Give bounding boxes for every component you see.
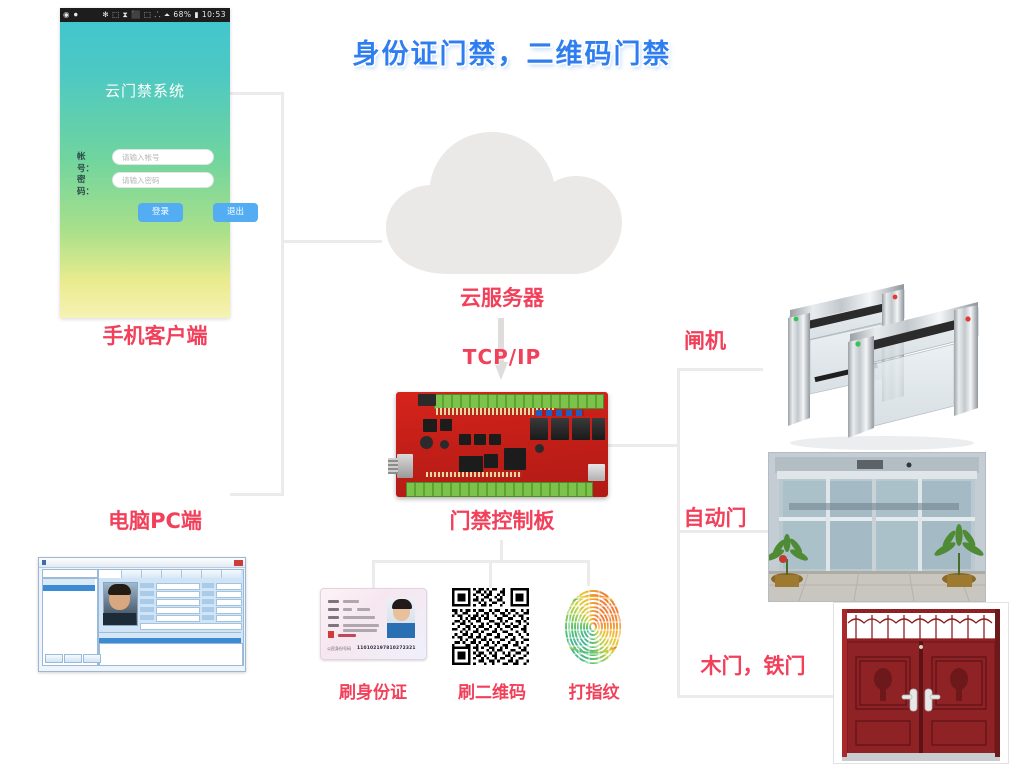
connector-bottom-to-qr [489, 560, 492, 588]
pc-field-input[interactable] [156, 599, 200, 606]
connector-right-to-iron-door [677, 695, 835, 698]
pc-client-mockup[interactable] [38, 557, 246, 672]
connector-bus-to-pc [230, 493, 284, 496]
connector-bottom-to-id [372, 560, 375, 590]
label-swipe-qr-code: 刷二维码 [440, 678, 544, 703]
id-card-photo-hair [392, 599, 412, 609]
status-bar-left-icons: ◉ ⏺ [63, 8, 79, 22]
pc-field-label [140, 583, 154, 588]
pc-title-bar [39, 558, 245, 568]
pc-field-input[interactable] [216, 607, 242, 614]
pc-field-label [140, 591, 154, 596]
id-card-emblem-icon [328, 631, 334, 638]
account-input[interactable]: 请输入帐号 [112, 149, 214, 165]
pc-field-label [140, 615, 154, 620]
iron-door-image [833, 602, 1009, 764]
pc-table-body[interactable] [99, 643, 243, 666]
connector-bus-vertical [281, 92, 284, 496]
pc-field-input[interactable] [216, 615, 242, 622]
pc-tab-7[interactable] [221, 570, 241, 578]
pc-field-input[interactable] [156, 607, 200, 614]
pc-person-photo-hair [108, 584, 131, 595]
id-number-value: 110102197810272321 [357, 646, 416, 651]
pc-tab-active[interactable] [99, 570, 122, 578]
label-cloud-server: 云服务器 [400, 282, 604, 312]
pc-field-input[interactable] [156, 591, 200, 598]
fingerprint-icon [559, 584, 627, 666]
connector-phone-to-bus [230, 92, 284, 95]
label-tcpip: TCP/IP [400, 345, 604, 369]
pc-remark-input[interactable] [140, 623, 242, 630]
pc-app-icon [42, 560, 46, 565]
id-card-photo-body [387, 623, 415, 638]
status-bar-right-icons: ✻ ⬚ ⧗ ⬛ ⬚ ⸫ ⏶ 68% ▮ 10:53 [102, 8, 226, 22]
pc-tab-3[interactable] [141, 570, 162, 578]
pc-field-label [202, 607, 214, 612]
pc-tab-5[interactable] [181, 570, 202, 578]
pc-tab-6[interactable] [201, 570, 222, 578]
pc-action-button-1[interactable] [45, 654, 63, 663]
label-control-board: 门禁控制板 [400, 505, 604, 535]
pc-field-label [202, 615, 214, 620]
pc-person-photo-body [103, 613, 136, 625]
pc-tree-panel[interactable] [42, 578, 98, 666]
pc-action-button-3[interactable] [83, 654, 101, 663]
id-card-image: 公民身份号码 110102197810272321 [320, 588, 427, 660]
pc-field-input[interactable] [156, 583, 200, 590]
pc-close-icon[interactable] [234, 560, 243, 566]
pc-field-label [202, 591, 214, 596]
pc-search-input[interactable] [42, 569, 98, 578]
pc-field-input[interactable] [216, 583, 242, 590]
password-label: 密码： [77, 173, 94, 197]
automatic-door-image [768, 452, 986, 602]
pc-field-input[interactable] [216, 599, 242, 606]
label-auto-door: 自动门 [660, 502, 770, 532]
connector-bottom-horizontal [372, 560, 590, 563]
phone-app-title: 云门禁系统 [60, 80, 230, 101]
pc-field-label [140, 599, 154, 604]
exit-button[interactable]: 退出 [213, 203, 258, 222]
id-number-label: 公民身份号码 [327, 646, 351, 652]
label-turnstile: 闸机 [660, 325, 750, 355]
pc-tab-2[interactable] [121, 570, 142, 578]
turnstile-icon [762, 278, 994, 450]
pc-field-label [202, 583, 214, 588]
connector-right-vertical [677, 368, 680, 698]
label-pc-client: 电脑PC端 [30, 505, 280, 535]
label-phone-client: 手机客户端 [30, 320, 280, 350]
pc-tree-selected-row[interactable] [43, 585, 95, 591]
password-input[interactable]: 请输入密码 [112, 172, 214, 188]
pc-action-button-2[interactable] [64, 654, 82, 663]
phone-client-mockup[interactable]: ◉ ⏺ ✻ ⬚ ⧗ ⬛ ⬚ ⸫ ⏶ 68% ▮ 10:53 云门禁系统 帐号： … [60, 8, 230, 318]
phone-status-bar: ◉ ⏺ ✻ ⬚ ⧗ ⬛ ⬚ ⸫ ⏶ 68% ▮ 10:53 [60, 8, 230, 22]
pc-field-label [202, 599, 214, 604]
label-wood-iron-door: 木门，铁门 [672, 650, 834, 680]
control-board-image [396, 392, 608, 497]
label-swipe-id-card: 刷身份证 [318, 678, 428, 703]
connector-bus-to-cloud [284, 240, 382, 243]
pc-field-input[interactable] [156, 615, 200, 622]
qr-code-icon [452, 588, 529, 665]
pc-tab-4[interactable] [161, 570, 182, 578]
pc-field-label [140, 607, 154, 612]
table-row[interactable] [99, 638, 241, 643]
label-fingerprint: 打指纹 [552, 678, 636, 703]
login-button[interactable]: 登录 [138, 203, 183, 222]
connector-board-to-right [608, 444, 680, 447]
connector-bottom-to-fingerprint [587, 560, 590, 586]
cloud-icon [378, 128, 646, 276]
connector-board-to-bottom-trunk [500, 540, 503, 562]
pc-field-input[interactable] [216, 591, 242, 598]
account-label: 帐号： [77, 150, 94, 174]
connector-right-to-turnstile [677, 368, 763, 371]
